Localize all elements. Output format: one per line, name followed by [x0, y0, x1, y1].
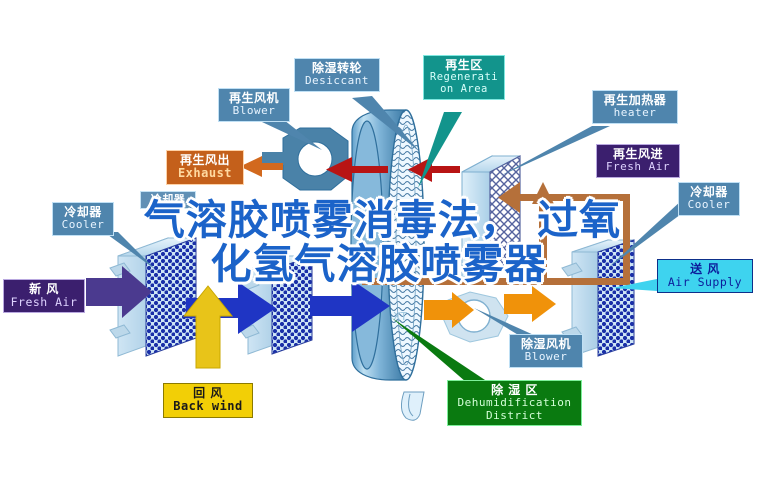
label-desiccant[interactable]: 除湿转轮 Desiccant	[294, 58, 380, 92]
label-desiccant-cn: 除湿转轮	[297, 62, 377, 75]
label-regeneration-fresh-air-en: Fresh Air	[599, 161, 677, 173]
label-air-supply-en: Air Supply	[660, 276, 750, 289]
label-regeneration-heater[interactable]: 再生加热器 heater	[592, 90, 678, 124]
label-back-wind-cn: 回 风	[166, 387, 250, 400]
label-back-wind[interactable]: 回 风 Back wind	[163, 383, 253, 418]
label-cooler-right-en: Cooler	[681, 199, 737, 211]
label-regeneration-heater-en: heater	[595, 107, 675, 119]
label-back-wind-en: Back wind	[166, 400, 250, 413]
label-dehumidification-blower-en: Blower	[512, 351, 580, 363]
label-regeneration-fresh-air-cn: 再生风进	[599, 148, 677, 161]
svg-text:XT: XT	[393, 310, 407, 323]
label-regeneration-blower-en: Blower	[221, 105, 287, 117]
label-regeneration-blower[interactable]: 再生风机 Blower	[218, 88, 290, 122]
label-cooler-left-top[interactable]: 冷却器	[140, 191, 196, 209]
label-dehumidification-blower-cn: 除湿风机	[512, 338, 580, 351]
label-cooler-left-en: Cooler	[55, 219, 111, 231]
label-cooler-right[interactable]: 冷却器 Cooler	[678, 182, 740, 216]
label-dehumidification-district[interactable]: 除 湿 区 Dehumidification District	[447, 380, 582, 426]
label-regeneration-heater-cn: 再生加热器	[595, 94, 675, 107]
label-regeneration-area-en2: on Area	[426, 84, 502, 96]
label-regeneration-fresh-air[interactable]: 再生风进 Fresh Air	[596, 144, 680, 178]
label-air-supply[interactable]: 送 风 Air Supply	[657, 259, 753, 293]
desiccant-rotor: XT	[351, 110, 424, 420]
label-fresh-air-cn: 新 风	[6, 283, 82, 296]
label-dehumidification-district-en2: District	[450, 410, 579, 422]
label-regeneration-area[interactable]: 再生区 Regenerati on Area	[423, 55, 505, 100]
label-desiccant-en: Desiccant	[297, 75, 377, 87]
label-cooler-left[interactable]: 冷却器 Cooler	[52, 202, 114, 236]
label-exhaust-cn: 再生风出	[169, 154, 241, 167]
label-exhaust-en: Exhaust	[169, 167, 241, 180]
diagram-canvas: XT	[0, 0, 757, 488]
label-regeneration-area-cn: 再生区	[426, 59, 502, 72]
label-fresh-air-en: Fresh Air	[6, 296, 82, 309]
label-air-supply-cn: 送 风	[660, 263, 750, 276]
label-cooler-left-cn: 冷却器	[55, 206, 111, 219]
label-cooler-right-cn: 冷却器	[681, 186, 737, 199]
label-cooler-left-top-cn: 冷却器	[143, 194, 193, 206]
label-exhaust[interactable]: 再生风出 Exhaust	[166, 150, 244, 185]
label-regeneration-blower-cn: 再生风机	[221, 92, 287, 105]
regeneration-heater	[462, 156, 520, 278]
label-dehumidification-blower[interactable]: 除湿风机 Blower	[509, 334, 583, 368]
supply-air-arrow-2	[504, 286, 556, 322]
label-fresh-air[interactable]: 新 风 Fresh Air	[3, 279, 85, 313]
label-dehumidification-district-cn: 除 湿 区	[450, 384, 579, 397]
label-dehumidification-district-en1: Dehumidification	[450, 397, 579, 409]
